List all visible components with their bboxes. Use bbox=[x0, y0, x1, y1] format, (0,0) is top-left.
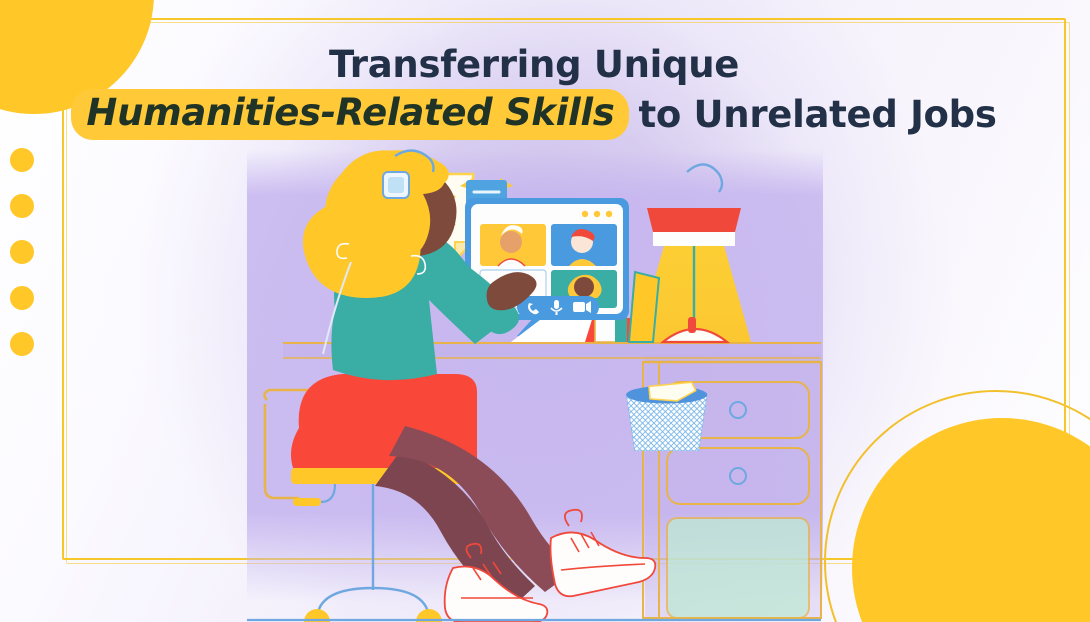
decorative-dot bbox=[10, 194, 34, 218]
decorative-dot bbox=[10, 148, 34, 172]
decorative-dot bbox=[10, 286, 34, 310]
call-controls-bar bbox=[517, 296, 599, 318]
title-highlight-phrase: Humanities-Related Skills bbox=[71, 89, 629, 140]
decorative-dot bbox=[10, 240, 34, 264]
decorative-dot bbox=[10, 332, 34, 356]
participant-tile-2 bbox=[551, 224, 617, 266]
page-title: Transferring Unique Humanities-Related S… bbox=[0, 40, 1090, 140]
title-tail-phrase: to Unrelated Jobs bbox=[638, 90, 996, 139]
mesh-wastebasket bbox=[626, 382, 707, 451]
title-line-1: Transferring Unique bbox=[0, 40, 1068, 89]
poster-canvas: Transferring Unique Humanities-Related S… bbox=[0, 0, 1090, 622]
window-dots bbox=[582, 211, 612, 217]
participant-tile-1 bbox=[480, 224, 546, 266]
bin-alcove bbox=[667, 518, 809, 618]
video-camera-icon bbox=[573, 301, 591, 313]
illustration-person-at-desk bbox=[255, 150, 815, 602]
title-line-2: Humanities-Related Skills to Unrelated J… bbox=[0, 89, 1068, 140]
dot-column-decoration bbox=[10, 148, 34, 356]
